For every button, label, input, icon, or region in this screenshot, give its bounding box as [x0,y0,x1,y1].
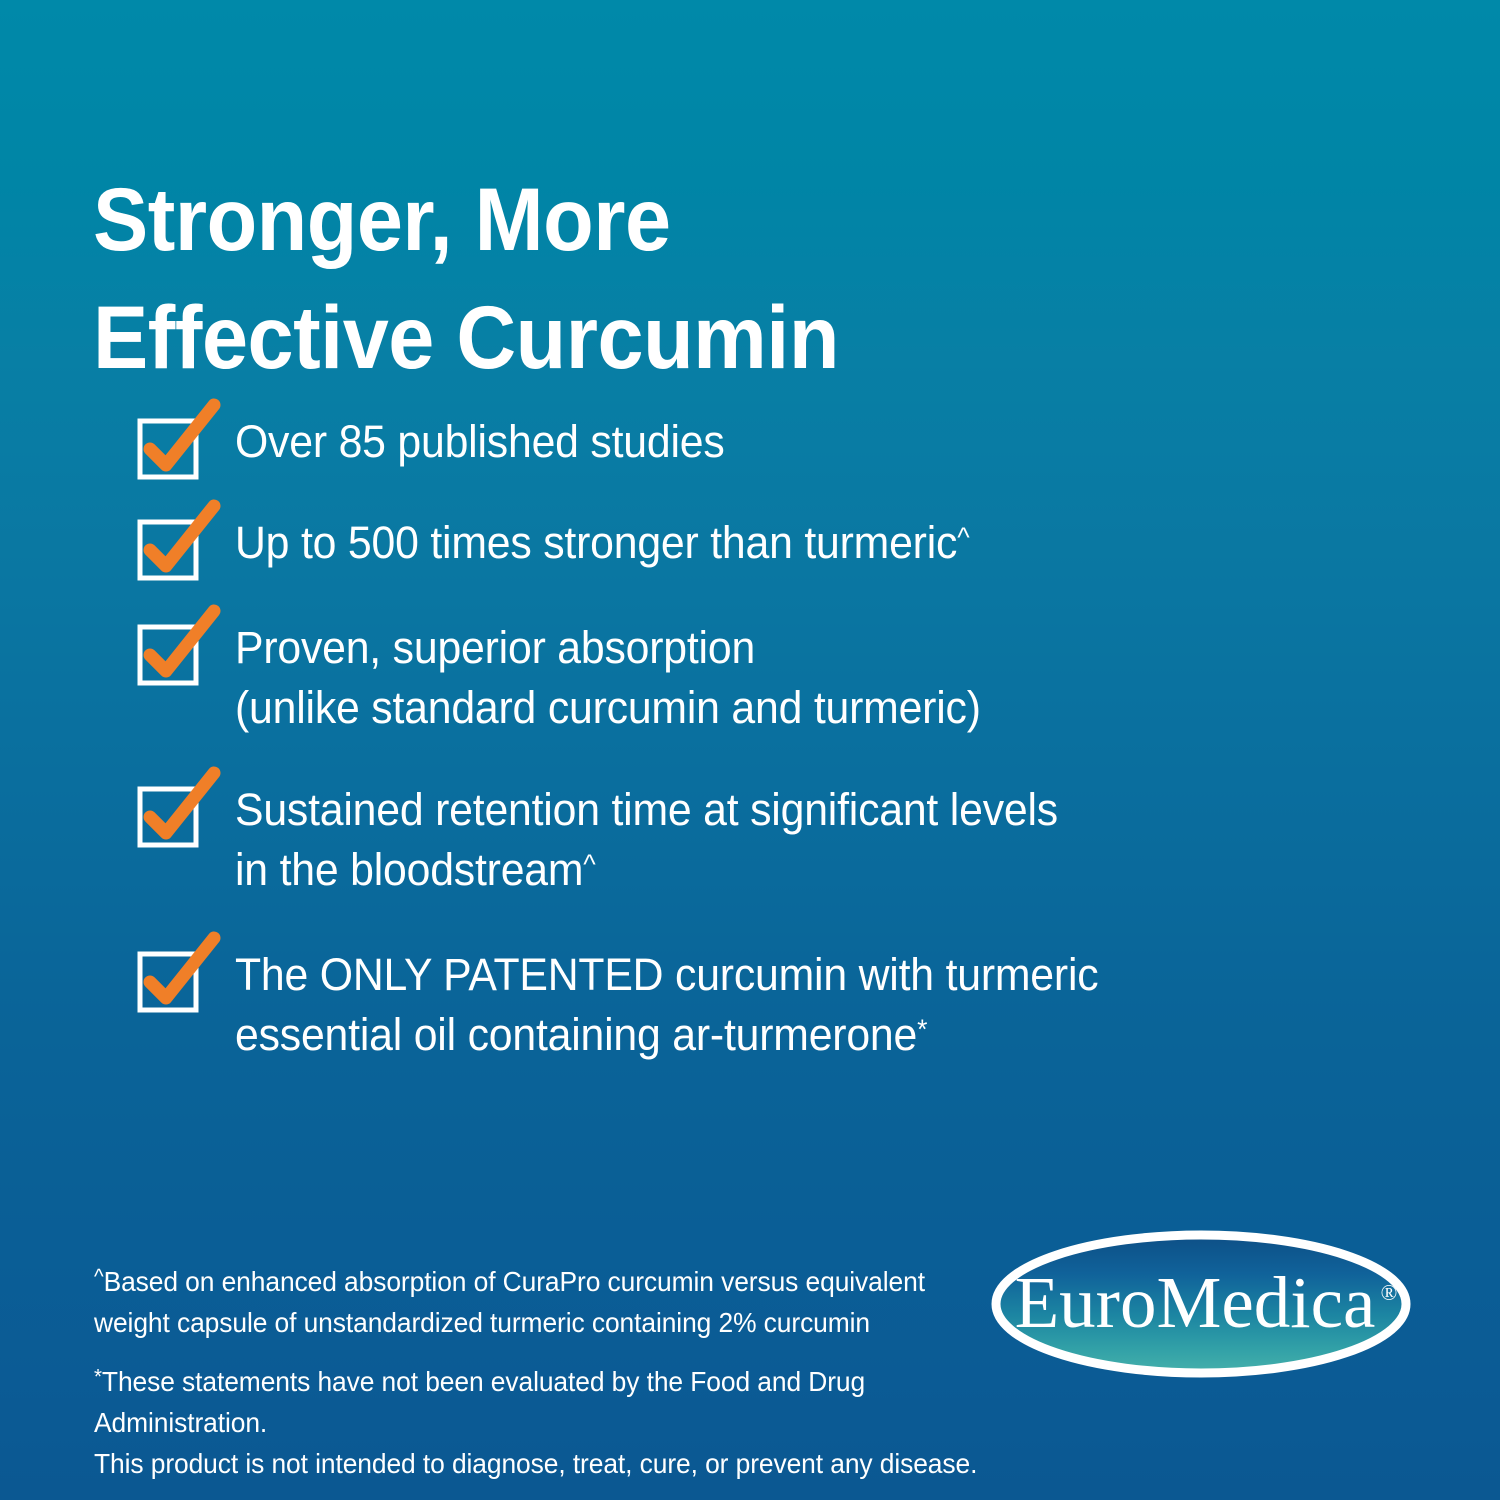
list-item-text: Proven, superior absorption (unlike stan… [235,622,981,733]
list-item: Sustained retention time at significant … [140,780,1400,900]
list-item: Over 85 published studies [140,412,1400,477]
footnote-marker: ^ [957,521,969,552]
footnote-fda-disclaimer: *These statements have not been evaluate… [94,1361,1016,1484]
footnote-absorption: ^Based on enhanced absorption of CuraPro… [94,1261,939,1343]
list-item: Up to 500 times stronger than turmeric^ [140,513,1400,578]
checked-checkbox-icon [140,789,196,845]
footnote-marker: ^ [583,848,595,879]
footnote-marker-caret: ^ [94,1264,104,1288]
list-item-text: Over 85 published studies [235,416,725,467]
list-item-text: Sustained retention time at significant … [235,784,1058,895]
logo-wordmark: EuroMedica [1015,1262,1376,1343]
euromedica-logo: EuroMedica ® [989,1228,1413,1380]
checked-checkbox-icon [140,627,196,683]
footnote-absorption-text: Based on enhanced absorption of CuraPro … [94,1266,925,1338]
list-item: Proven, superior absorption (unlike stan… [140,618,1400,738]
list-item-label: Sustained retention time at significant … [235,780,1342,900]
promo-canvas: Stronger, More Effective Curcumin Over 8… [0,0,1500,1500]
list-item-label: Over 85 published studies [235,412,1342,472]
list-item-label: Up to 500 times stronger than turmeric^ [235,513,1342,573]
registered-trademark-icon: ® [1381,1280,1398,1305]
list-item-label: The ONLY PATENTED curcumin with turmeric… [235,945,1342,1065]
list-item: The ONLY PATENTED curcumin with turmeric… [140,945,1400,1065]
page-title: Stronger, More Effective Curcumin [93,160,1023,396]
list-item-text: Up to 500 times stronger than turmeric [235,517,957,568]
list-item-text: The ONLY PATENTED curcumin with turmeric… [235,949,1098,1060]
benefits-list: Over 85 published studies Up to 500 time… [140,412,1400,1065]
checked-checkbox-icon [140,421,196,477]
list-item-label: Proven, superior absorption (unlike stan… [235,618,1342,738]
footnote-marker: * [917,1013,927,1044]
checked-checkbox-icon [140,954,196,1010]
footnote-fda-disclaimer-text: These statements have not been evaluated… [94,1366,977,1479]
checked-checkbox-icon [140,522,196,578]
